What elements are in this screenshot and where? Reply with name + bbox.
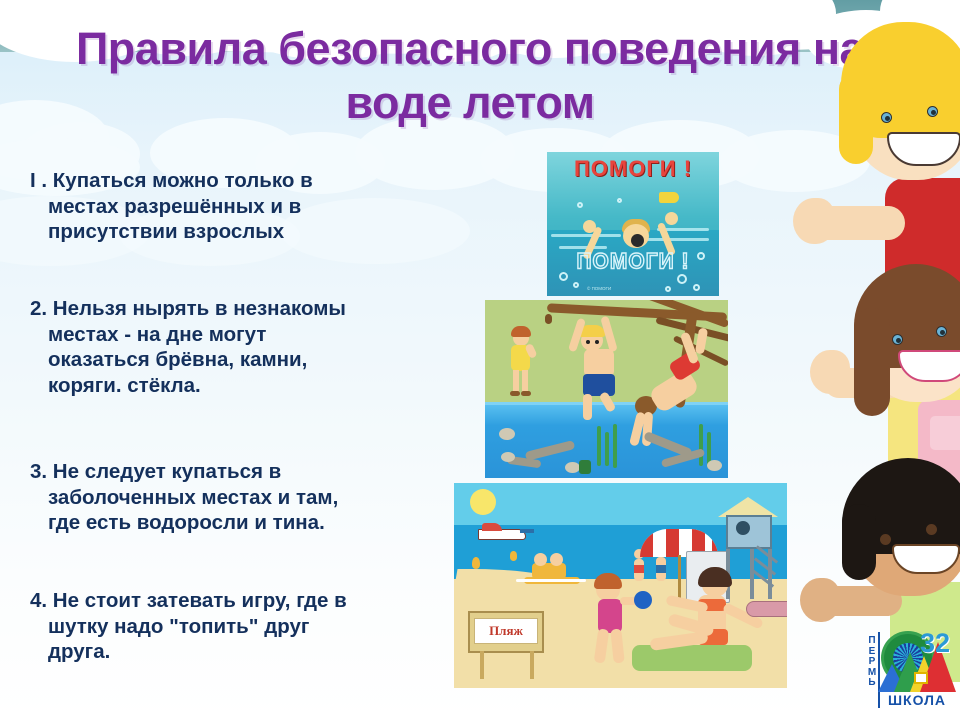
submerged-bottle <box>579 460 591 474</box>
boy2-eye-left <box>880 534 891 545</box>
girl-hair-braid <box>854 308 890 416</box>
water-weed <box>605 432 609 466</box>
boy-hair-side <box>839 72 873 164</box>
beach-mat <box>632 645 752 671</box>
boy-hand <box>793 198 835 244</box>
sun-icon <box>470 489 496 515</box>
image-drowning-poster: ПОМОГИ ! ПОМОГИ ! © ПОМОГИ <box>547 152 719 296</box>
boy2-hand <box>800 578 840 622</box>
submerged-rock <box>707 460 722 471</box>
boy-eye-left <box>881 112 892 123</box>
rule-item-2: 2. Нельзя нырять в незнакомы местах - на… <box>30 296 460 398</box>
poster-caption-bottom: ПОМОГИ ! <box>547 249 719 274</box>
rule-item-4: 4. Не стоит затевать игру, где в шутку н… <box>30 588 460 665</box>
water-weed <box>699 424 703 466</box>
sign-leg <box>530 651 534 679</box>
poster-signature: © ПОМОГИ <box>587 286 611 291</box>
page-number: 32 <box>920 628 950 659</box>
character-blond-boy <box>815 28 960 258</box>
beach-sign-label: Пляж <box>474 618 538 644</box>
rule-item-1: I . Купаться можно только в местах разре… <box>30 168 460 245</box>
character-brunette-girl <box>818 288 960 488</box>
boy2-eye-right <box>926 524 937 535</box>
buoy <box>472 557 480 569</box>
page-title: Правила безопасного поведения на воде ле… <box>60 22 880 130</box>
flipper <box>659 192 679 203</box>
submerged-rock <box>499 428 515 440</box>
overall-pocket <box>930 416 960 450</box>
poster-caption-top: ПОМОГИ ! <box>547 156 719 182</box>
water-weed <box>613 424 617 468</box>
slide-canvas: Правила безопасного поведения на воде ле… <box>0 0 960 720</box>
girl-eye-left <box>892 334 903 345</box>
sign-leg <box>480 651 484 679</box>
rule-item-3: 3. Не следует купаться в заболоченных ме… <box>30 459 460 536</box>
image-beach-scene: Пляж <box>454 483 787 688</box>
logo-city-label: П Е Р М Ь <box>864 636 880 689</box>
buoy <box>510 551 517 561</box>
boy-eye-right <box>927 106 938 117</box>
submerged-rock <box>501 452 515 462</box>
girl-eye-right <box>936 326 947 337</box>
logo-book-icon <box>914 672 928 684</box>
twig <box>545 314 552 324</box>
image-diving-scene <box>485 300 728 478</box>
submerged-rock <box>565 462 580 473</box>
water-weed <box>597 426 601 466</box>
boy2-hair-side <box>842 504 876 580</box>
girl-hand <box>810 350 850 394</box>
logo-school-label: ШКОЛА <box>880 692 954 708</box>
beach-mat-pink <box>746 601 787 617</box>
